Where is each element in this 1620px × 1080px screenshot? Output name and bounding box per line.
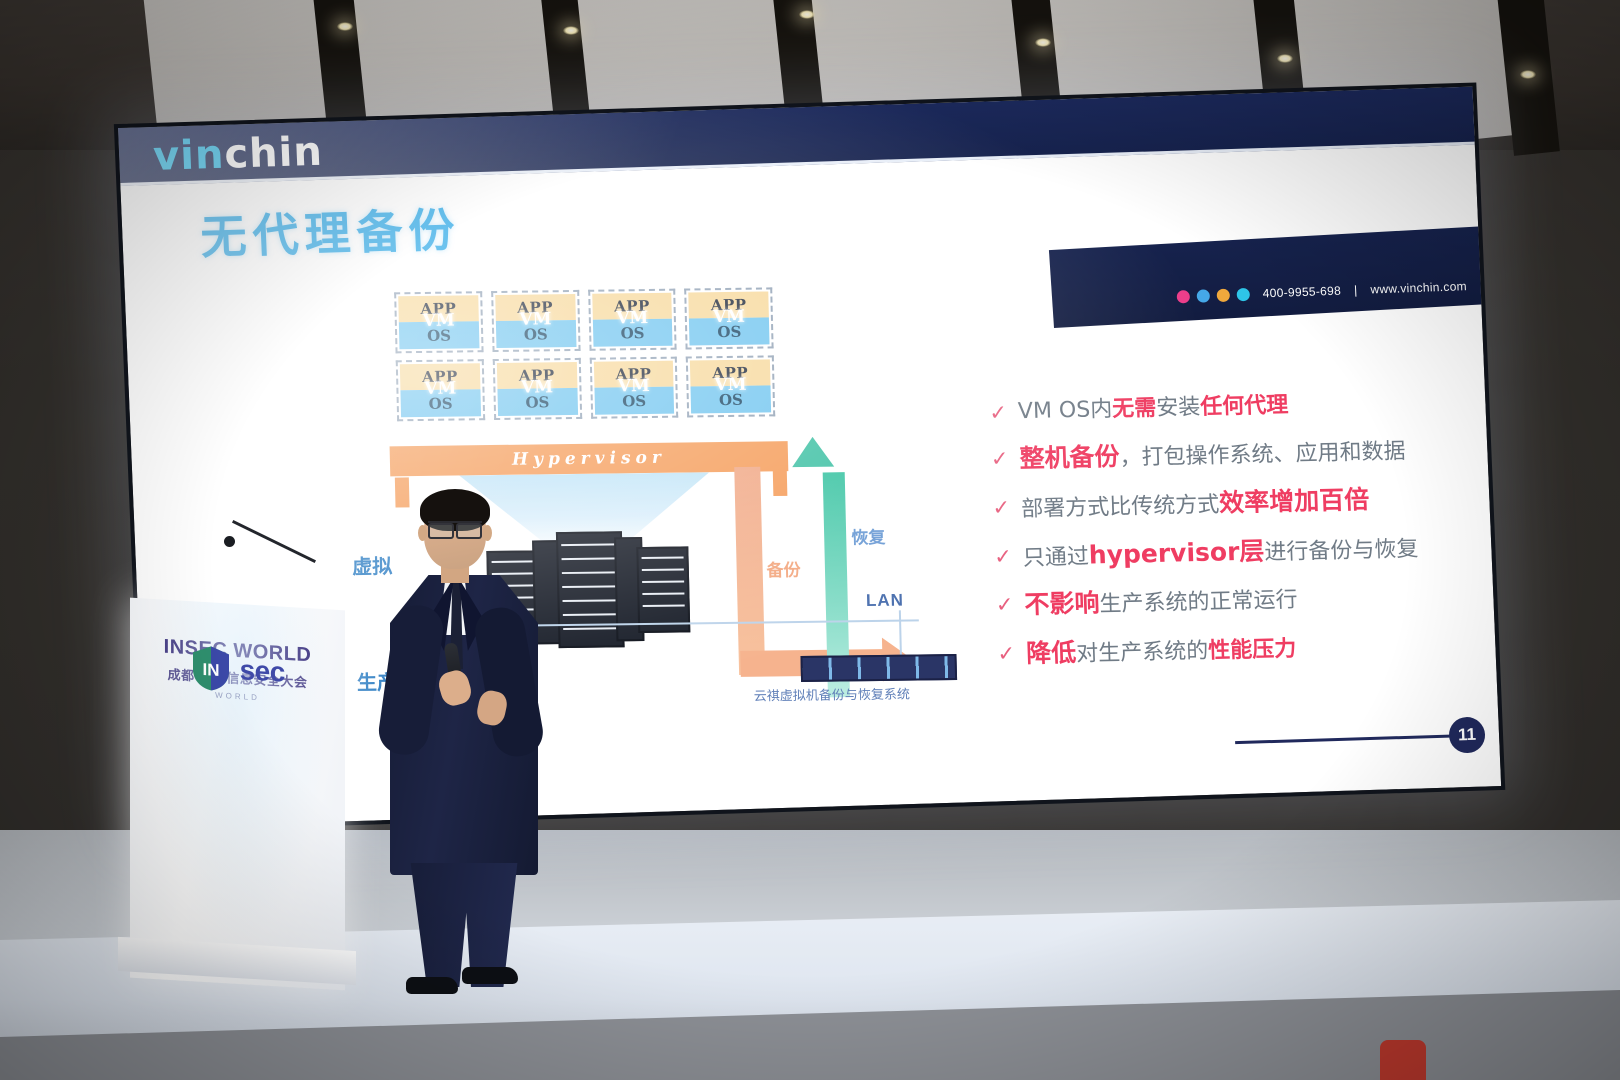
restore-arrow-head [792,437,835,468]
check-icon: ✓ [997,642,1015,667]
bullet-text: VM OS内无需安装任何代理 [1018,393,1289,425]
contact-website: www.vinchin.com [1370,279,1467,296]
presenter-ear-left [418,525,427,541]
feature-bullet-list: ✓VM OS内无需安装任何代理 ✓整机备份，打包操作系统、应用和数据 ✓部署方式… [989,389,1469,690]
bullet-item: ✓降低对生产系统的性能压力 [997,630,1468,670]
bullet-item: ✓部署方式比传统方式效率增加百倍 [992,484,1463,524]
ceiling-spotlight [563,26,579,35]
vm-tag: VM [397,310,481,331]
microphone-boom-head [224,536,235,547]
bullet-text: 只通过hypervisor层进行备份与恢复 [1022,533,1418,571]
ceiling-spotlight [799,10,815,19]
hypervisor-leg-right [773,466,788,496]
ceiling-spotlight [1520,70,1536,79]
storage-caption: 云祺虚拟机备份与恢复系统 [754,683,910,704]
shield-icon: IN [190,643,232,693]
bullet-item: ✓不影响生产系统的正常运行 [995,581,1466,621]
vm-box: APPOSVM [588,289,677,351]
vm-box: APPOSVM [686,355,775,417]
contact-separator: | [1353,283,1357,297]
vm-box: APPOSVM [492,358,581,420]
vm-tag: VM [398,378,482,399]
podium: IN sec WORLD INSEC WORLD 成都·世界信息安全大会 [130,598,345,991]
logo-suffix: chin [224,129,324,178]
check-icon: ✓ [996,594,1014,619]
bullet-item: ✓VM OS内无需安装任何代理 [989,389,1460,426]
ceiling-spotlight [1035,38,1051,47]
lan-label: LAN [866,591,904,611]
vm-tag: VM [687,306,771,327]
conference-photo-scene: vinchin 400-9955-698 | www.vinchin.com 无… [0,0,1620,1080]
page-number-rule [1235,734,1453,744]
contact-phone: 400-9955-698 [1262,284,1341,301]
brand-dot-cyan [1236,287,1250,300]
hypervisor-bar: Hypervisor [390,441,789,476]
vm-grid: APPOSVM APPOSVM APPOSVM APPOSVM APPOSVM … [394,287,775,421]
restore-label: 恢复 [851,523,886,548]
vm-box: APPOSVM [491,290,580,352]
check-icon: ✓ [989,401,1007,426]
svg-text:IN: IN [203,660,220,680]
presenter [384,495,544,955]
check-icon: ✓ [992,496,1010,521]
check-icon: ✓ [991,448,1009,473]
brand-dot-blue [1196,289,1210,302]
bullet-item: ✓整机备份，打包操作系统、应用和数据 [990,435,1461,475]
insec-logo-word: sec [240,654,285,689]
backup-appliance [800,654,957,682]
vm-tag: VM [688,374,772,395]
slide-title: 无代理备份 [199,194,462,268]
vm-box: APPOSVM [394,291,483,353]
bullet-item: ✓只通过hypervisor层进行备份与恢复 [994,532,1465,572]
bullet-text: 整机备份，打包操作系统、应用和数据 [1019,436,1406,474]
logo-prefix: vin [152,132,225,180]
backup-arrow-vertical [734,467,765,675]
brand-dot-orange [1216,288,1230,301]
bullet-text: 降低对生产系统的性能压力 [1026,634,1297,669]
ceiling-spotlight [337,22,353,31]
presenter-ear-right [483,525,492,541]
glasses-icon [428,521,482,535]
hypervisor-label: Hypervisor [512,448,666,470]
foreground-object [1380,1040,1426,1080]
server-rack [636,546,690,633]
presenter-shoe-left [406,977,458,994]
vm-tag: VM [590,308,674,329]
bullet-text: 不影响生产系统的正常运行 [1024,585,1298,620]
check-icon: ✓ [994,545,1012,570]
vinchin-logo: vinchin [152,129,323,180]
vm-box: APPOSVM [589,357,678,419]
presenter-shoe-right [462,967,518,984]
bullet-text: 部署方式比传统方式效率增加百倍 [1021,486,1370,523]
brand-dot-pink [1176,290,1190,303]
vm-tag: VM [592,376,676,397]
vm-box: APPOSVM [396,359,485,421]
ceiling-spotlight [1277,54,1293,63]
backup-label: 备份 [766,556,801,581]
lan-drop-line [899,610,902,658]
vm-tag: VM [493,309,577,330]
vm-tag: VM [495,377,579,398]
page-number-badge: 11 [1448,717,1485,754]
vm-box: APPOSVM [684,287,773,349]
